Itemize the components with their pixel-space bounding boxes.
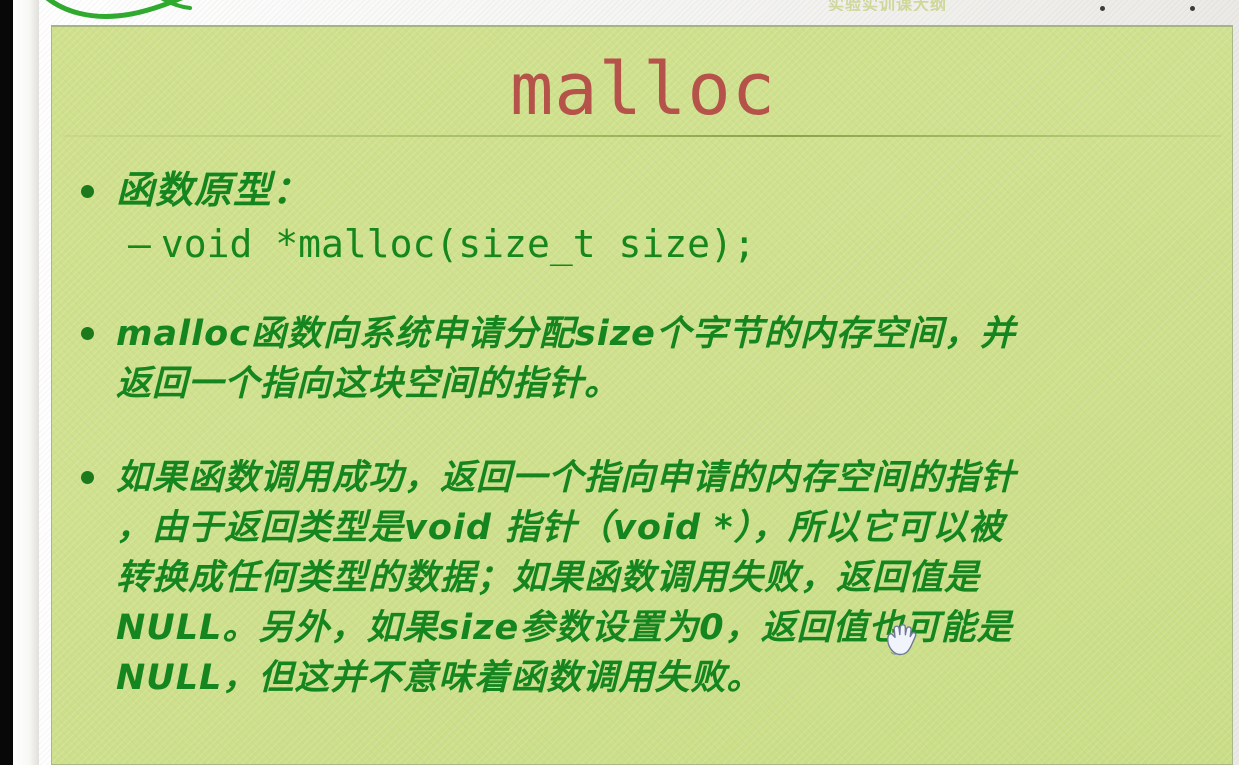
slide-page-left-margin	[13, 0, 39, 765]
bullet-text-return-value: 如果函数调用成功，返回一个指向申请的内存空间的指针 ，由于返回类型是void 指…	[116, 453, 1233, 703]
header-dot-1	[1100, 6, 1105, 11]
sub-bullet-dash-icon: –	[128, 219, 151, 269]
header-marker-dots	[1078, 0, 1228, 15]
presentation-screen: 实验实训课大纲 malloc 函数原型： – void *malloc(size…	[0, 0, 1239, 765]
sub-bullet-code-prototype: – void *malloc(size_t size);	[128, 219, 1233, 269]
return-value-line-3: 转换成任何类型的数据；如果函数调用失败，返回值是	[116, 553, 1216, 603]
page-header-text: 实验实训课大纲	[828, 0, 1078, 11]
bullet-item-description: malloc函数向系统申请分配size个字节的内存空间，并 返回一个指向这块空间…	[52, 309, 1233, 409]
return-value-line-1: 如果函数调用成功，返回一个指向申请的内存空间的指针	[116, 453, 1216, 503]
return-value-line-2: ，由于返回类型是void 指针（void *），所以它可以被	[116, 503, 1216, 553]
return-value-line-5: NULL，但这并不意味着函数调用失败。	[116, 653, 1216, 703]
description-line-1: malloc函数向系统申请分配size个字节的内存空间，并	[116, 309, 1216, 359]
description-line-2: 返回一个指向这块空间的指针。	[116, 359, 1216, 409]
title-divider-rule	[63, 135, 1221, 137]
bullet-dot-icon	[81, 185, 94, 198]
bullet-label-prototype: 函数原型：	[116, 167, 1216, 213]
bullet-item-return-value: 如果函数调用成功，返回一个指向申请的内存空间的指针 ，由于返回类型是void 指…	[52, 453, 1233, 703]
slide-body: 函数原型： – void *malloc(size_t size); mallo…	[52, 167, 1233, 703]
bullet-text-prototype: 函数原型：	[116, 167, 1233, 213]
header-dot-2	[1190, 6, 1195, 11]
bullet-item-prototype: 函数原型：	[52, 167, 1233, 213]
bullet-dot-icon	[81, 471, 94, 484]
code-signature-malloc: void *malloc(size_t size);	[161, 219, 756, 269]
slide-title: malloc	[52, 49, 1233, 129]
bullet-text-description: malloc函数向系统申请分配size个字节的内存空间，并 返回一个指向这块空间…	[116, 309, 1233, 409]
bullet-dot-icon	[81, 327, 94, 340]
slide-content-area: malloc 函数原型： – void *malloc(size_t size)…	[51, 25, 1233, 765]
return-value-line-4: NULL。另外，如果size参数设置为0，返回值也可能是	[116, 603, 1216, 653]
letterbox-bar-left	[0, 0, 13, 765]
